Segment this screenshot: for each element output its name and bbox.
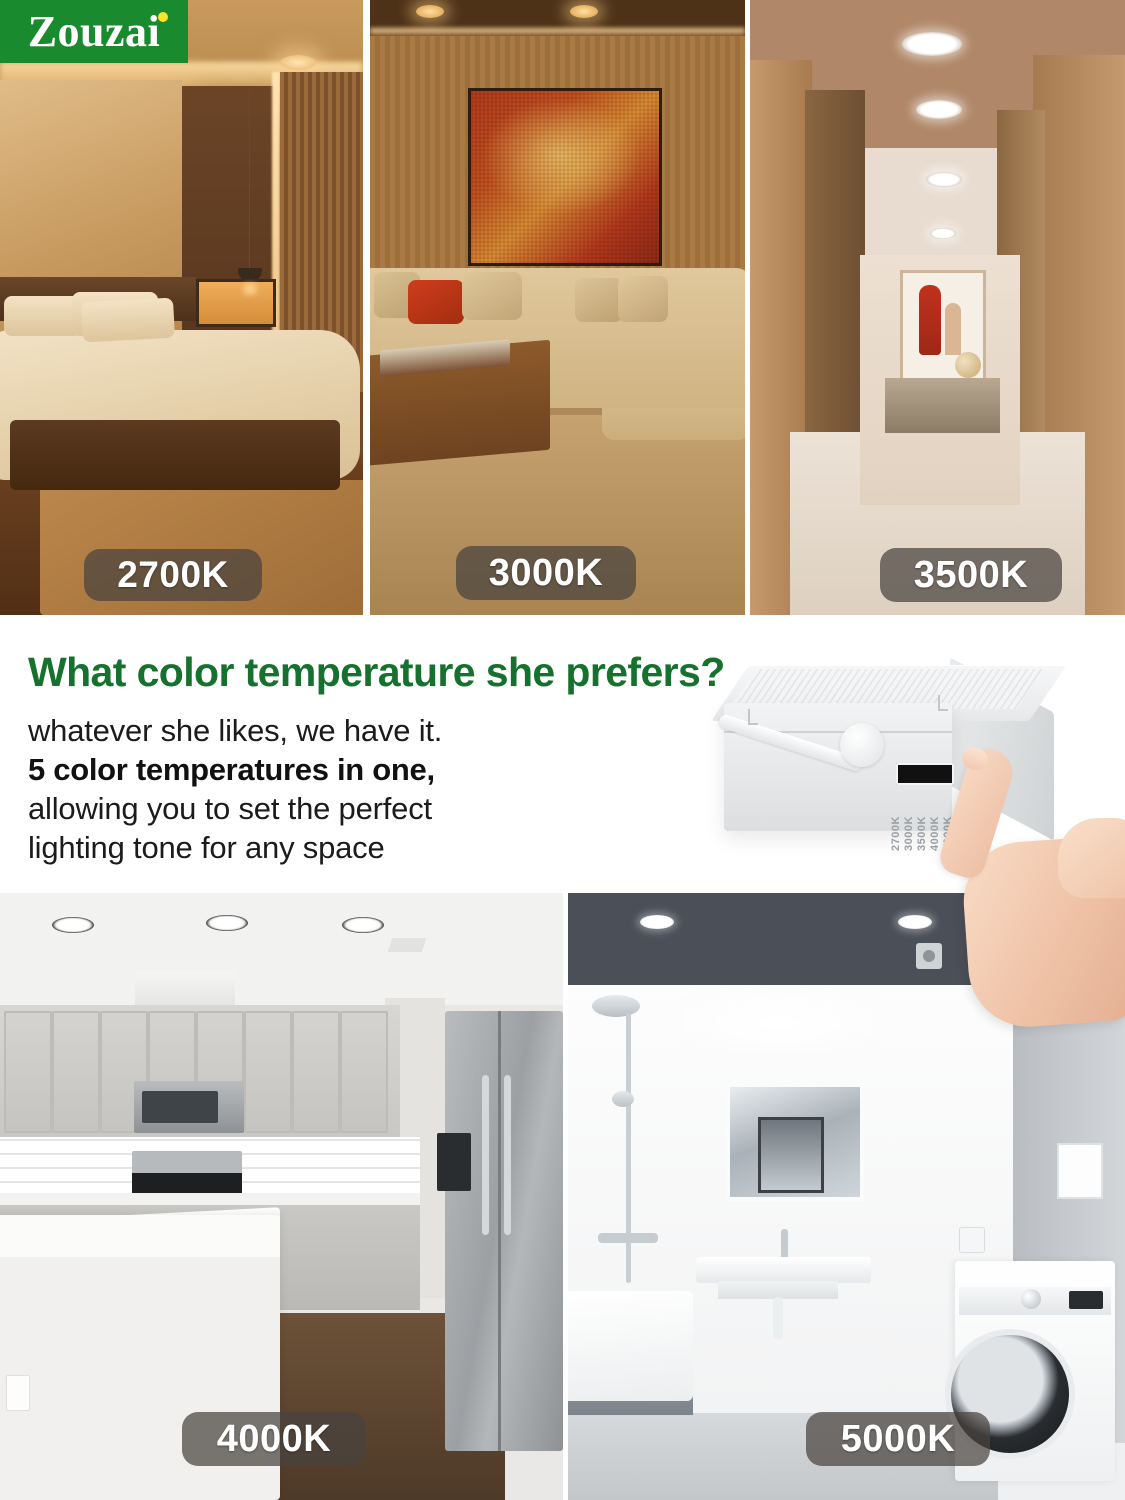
cabinet-door[interactable] [52, 1011, 100, 1133]
downlight-icon [206, 915, 248, 931]
downlight-icon [280, 55, 316, 70]
body-line-1: whatever she likes, we have it. [28, 713, 442, 749]
water-dispenser[interactable] [437, 1133, 471, 1191]
bedroom-niche-light [196, 279, 276, 327]
fridge-door-split [498, 1011, 501, 1451]
bath-faucet [598, 1233, 658, 1243]
hand-knuckles [1058, 818, 1125, 898]
product-infographic: 2700K 3000K [0, 0, 1125, 1500]
downlight-icon [640, 915, 674, 929]
fridge-handle[interactable] [504, 1075, 511, 1235]
switch-label-3500k: 3500K [916, 789, 928, 851]
downlight-icon [342, 917, 384, 933]
power-socket [959, 1227, 985, 1253]
downlight-icon [916, 100, 962, 119]
brand-logo-text: Zouzai [28, 10, 161, 54]
badge-4000k: 4000K [182, 1412, 366, 1466]
downlight-icon [416, 5, 444, 18]
mirror-reflection [758, 1117, 824, 1193]
downlight-icon [930, 228, 956, 239]
downlight-icon [898, 915, 932, 929]
brand-logo: Zouzai [0, 0, 188, 63]
body-line-4: lighting tone for any space [28, 830, 385, 866]
cabinet-door[interactable] [292, 1011, 340, 1133]
exhaust-fan-icon [916, 943, 942, 969]
bed-base [10, 420, 340, 490]
sink-tap [781, 1229, 788, 1259]
body-line-3: allowing you to set the perfect [28, 791, 432, 827]
wall-outlet [6, 1375, 30, 1411]
scene-3500k: 3500K [750, 0, 1125, 615]
rose-sculpture [955, 352, 981, 378]
logo-dot-icon [158, 12, 168, 22]
bathroom-mirror [726, 1083, 864, 1201]
pendant-cord [249, 90, 250, 270]
wall-artwork [468, 88, 662, 266]
cabinet-door[interactable] [244, 1011, 292, 1133]
washer-display [1069, 1291, 1103, 1309]
scene-4000k: 4000K [0, 893, 563, 1500]
badge-2700k: 2700K [84, 549, 262, 601]
accent-cushion [408, 280, 464, 324]
artwork-shape [919, 285, 941, 355]
cabinet-door[interactable] [4, 1011, 52, 1133]
kitchen-ceiling [0, 893, 563, 1005]
ceiling-vent [388, 938, 427, 952]
countertop [0, 1193, 420, 1205]
pendant-glow [242, 282, 258, 296]
hand-pointing [940, 690, 1125, 1020]
pillow [81, 298, 175, 343]
scene-2700k: 2700K [0, 0, 363, 615]
badge-5000k: 5000K [806, 1412, 990, 1466]
microwave [134, 1081, 244, 1133]
wall-hung-sink [696, 1257, 871, 1283]
access-panel [1057, 1143, 1103, 1199]
microwave-window [142, 1091, 218, 1123]
switch-label-2700k: 2700K [890, 789, 902, 851]
downlight-icon [926, 172, 962, 187]
cushion [575, 278, 623, 322]
cushion [462, 272, 522, 320]
bathtub [568, 1291, 693, 1401]
badge-3000k: 3000K [456, 546, 636, 600]
device-clip [748, 709, 758, 725]
drain-pipe [773, 1297, 783, 1339]
downlight-icon [52, 917, 94, 933]
downlight-icon [570, 5, 598, 18]
badge-3500k: 3500K [880, 548, 1062, 602]
downlight-icon [902, 32, 962, 56]
page-headline: What color temperature she prefers? [28, 649, 725, 696]
artwork-shape [945, 303, 961, 355]
wall-sheen [678, 993, 878, 1053]
fridge-handle[interactable] [482, 1075, 489, 1235]
cable-grommet [840, 723, 884, 767]
shower-head [592, 995, 640, 1017]
switch-label-3000k: 3000K [903, 789, 915, 851]
scene-3000k: 3000K [370, 0, 745, 615]
console-table [885, 378, 1000, 433]
cushion [618, 276, 668, 322]
pillow [4, 296, 82, 336]
hand-shower [612, 1091, 634, 1107]
body-line-2: 5 color temperatures in one, [28, 752, 435, 788]
cabinet-door[interactable] [340, 1011, 388, 1133]
washer-knob[interactable] [1021, 1289, 1041, 1309]
